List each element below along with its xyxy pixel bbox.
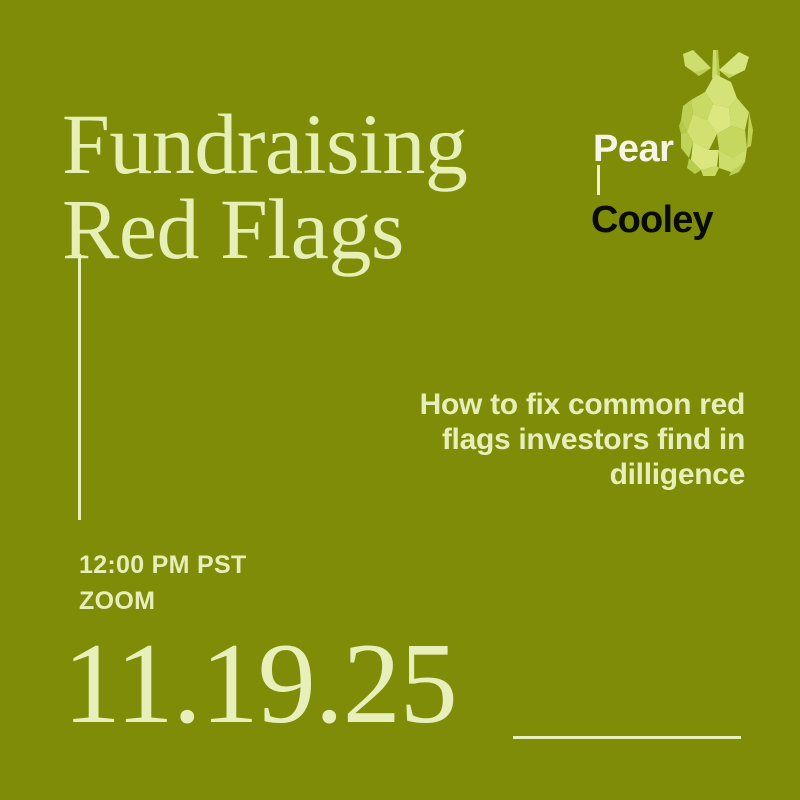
poster-canvas: Fundraising Red Flags Pear Cooley: [0, 0, 800, 800]
vertical-divider: [78, 254, 81, 520]
event-date: 11.19.25: [63, 626, 457, 742]
subtitle-text: How to fix common red flags investors fi…: [405, 387, 745, 492]
logo-divider: [597, 165, 600, 195]
event-platform: ZOOM: [79, 584, 247, 620]
event-meta: 12:00 PM PST ZOOM: [79, 548, 247, 619]
horizontal-divider: [513, 736, 741, 739]
event-time: 12:00 PM PST: [79, 548, 247, 584]
logo-lockup: Pear Cooley: [583, 38, 763, 248]
page-title: Fundraising Red Flags: [62, 102, 582, 272]
pear-icon: [667, 38, 763, 178]
brand-name-pear: Pear: [593, 130, 673, 168]
partner-name-cooley: Cooley: [591, 201, 713, 239]
